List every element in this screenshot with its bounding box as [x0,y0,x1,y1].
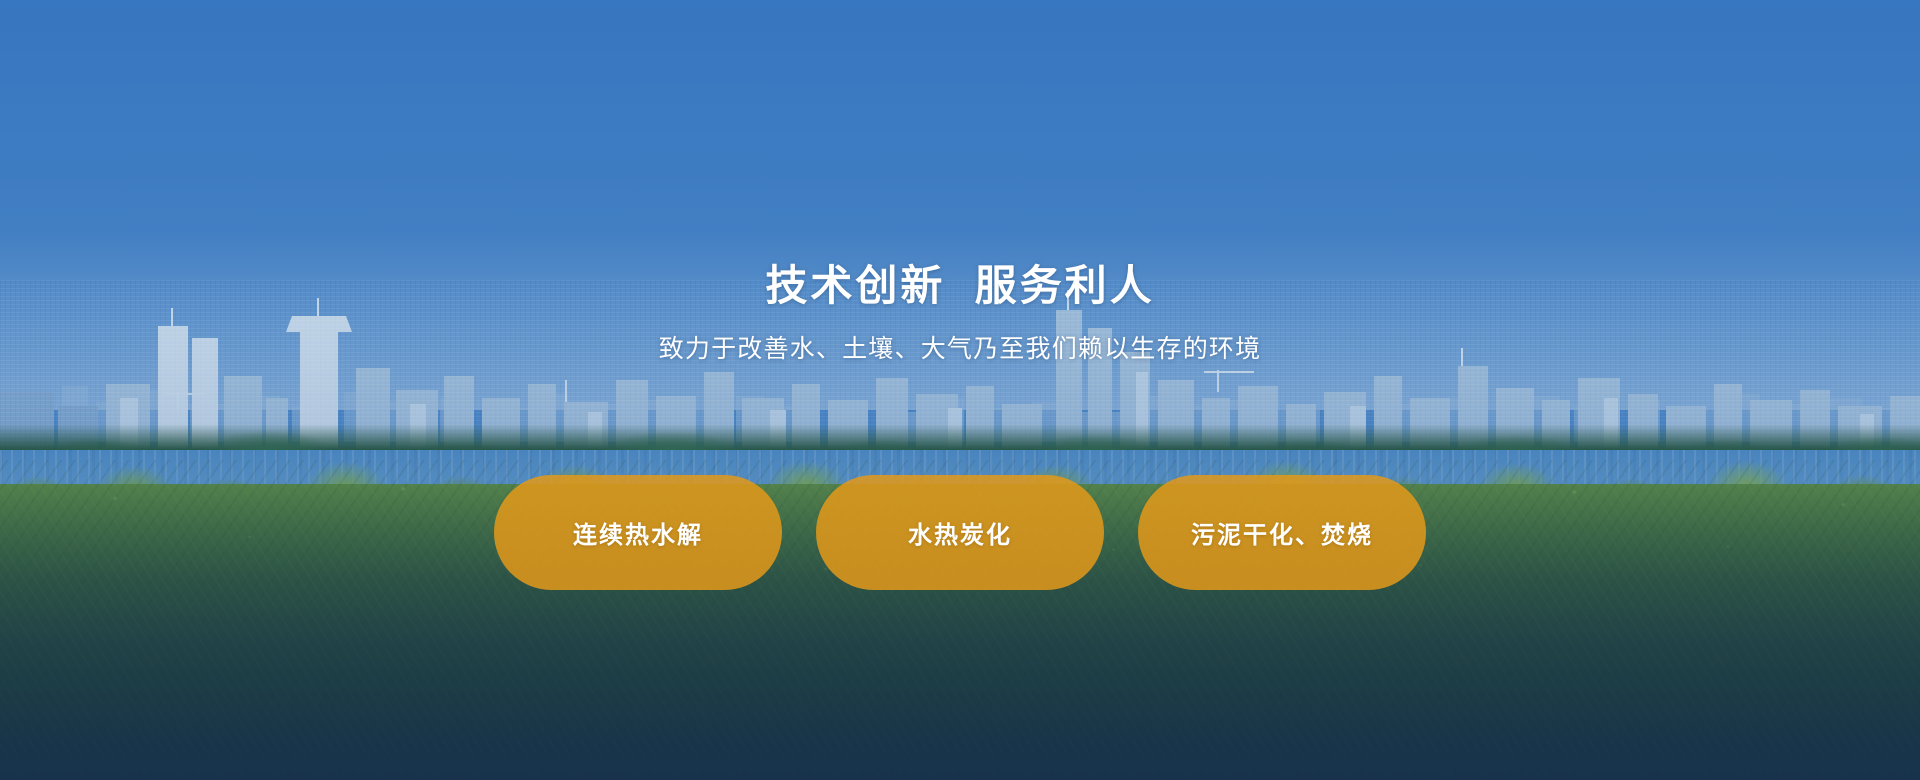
hero-subtitle: 致力于改善水、土壤、大气乃至我们赖以生存的环境 [0,333,1920,366]
pill-button-continuous-thermal-hydrolysis[interactable]: 连续热水解 [494,475,782,590]
hero-copy: 技术创新 服务利人 致力于改善水、土壤、大气乃至我们赖以生存的环境 [0,262,1920,365]
pill-button-sludge-drying-incineration[interactable]: 污泥干化、焚烧 [1138,475,1426,590]
pill-label: 连续热水解 [573,515,703,550]
hero-banner: 技术创新 服务利人 致力于改善水、土壤、大气乃至我们赖以生存的环境 连续热水解 … [0,0,1920,780]
pill-button-hydrothermal-carbonization[interactable]: 水热炭化 [816,475,1104,590]
pill-label: 污泥干化、焚烧 [1191,515,1373,550]
page-title: 技术创新 服务利人 [0,262,1920,311]
category-pill-row: 连续热水解 水热炭化 污泥干化、焚烧 [0,475,1920,590]
pill-label: 水热炭化 [908,515,1012,550]
